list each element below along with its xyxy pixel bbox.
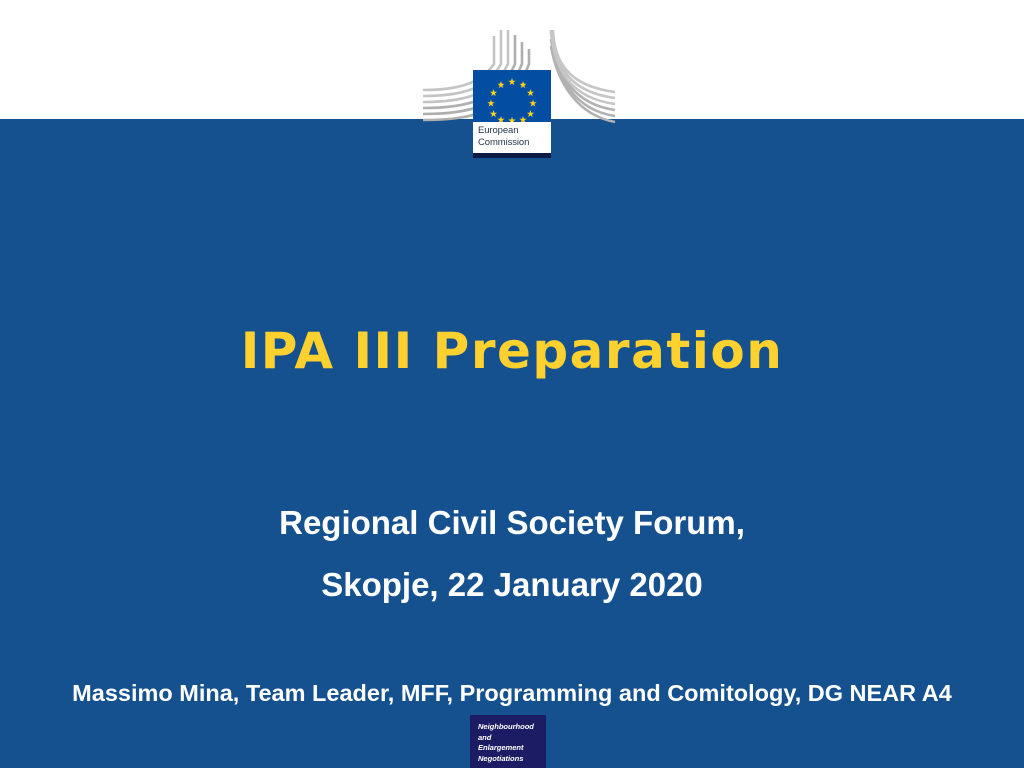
ec-name-line-2: Commission (478, 137, 551, 149)
logo-waves-right-icon (545, 30, 625, 128)
subtitle-line-1: Regional Civil Society Forum, (0, 492, 1024, 554)
european-commission-wordmark: European Commission (473, 122, 551, 153)
slide-subtitle: Regional Civil Society Forum, Skopje, 22… (0, 492, 1024, 616)
near-logo-line-2: Enlargement (478, 743, 546, 754)
slide-author-line: Massimo Mina, Team Leader, MFF, Programm… (0, 680, 1024, 707)
subtitle-line-2: Skopje, 22 January 2020 (0, 554, 1024, 616)
slide-blue-background (0, 119, 1024, 768)
ec-logo-underbar (473, 153, 551, 158)
eu-flag-icon (473, 70, 551, 122)
slide-title: IPA III Preparation (0, 322, 1024, 380)
near-logo-line-3: Negotiations (478, 754, 546, 765)
dg-near-logo: Neighbourhood and Enlargement Negotiatio… (470, 715, 546, 768)
ec-name-line-1: European (478, 125, 551, 137)
near-logo-line-1: Neighbourhood and (478, 722, 546, 743)
european-commission-logo: European Commission (423, 30, 623, 158)
presentation-slide: European Commission IPA III Preparation … (0, 0, 1024, 768)
